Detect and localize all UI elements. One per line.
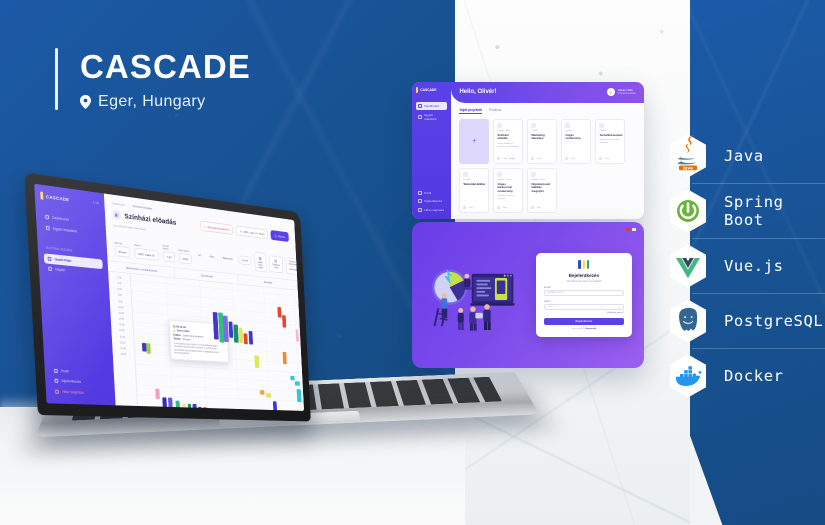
login-footer-text: Nincs fiókod? xyxy=(571,328,584,330)
button-label: Gantt Plan nézet xyxy=(258,261,263,270)
sidebar-item-label: Naptár xyxy=(55,268,65,273)
dashboard-hero: Hello, Olivér! ☺ Olivér Oláh projektmene… xyxy=(451,82,644,103)
project-card-name: Színházi előadás xyxy=(497,134,519,141)
login-screenshot-card: Bejelentkezés Üdvözlünk újra, add meg ad… xyxy=(412,222,644,368)
tech-stack-item-postgresql[interactable]: PostgreSQL xyxy=(665,293,825,348)
project-card-members: 5 tag xyxy=(536,158,540,160)
project-card-members: 4 tag xyxy=(570,158,574,160)
sidebar-item-label: Gantt Plan xyxy=(54,257,71,263)
gantt-bar[interactable] xyxy=(290,376,295,380)
project-card[interactable]: ProjektTermékbevezetésGyártási és logisz… xyxy=(595,119,625,164)
home-icon xyxy=(45,215,49,219)
project-card-name: Termékbevezetés xyxy=(599,134,621,137)
login-form-card: Bejelentkezés Üdvözlünk újra, add meg ad… xyxy=(536,253,632,337)
profile-icon xyxy=(54,369,58,373)
java-icon: Java xyxy=(665,133,711,179)
members-icon xyxy=(497,206,500,209)
calendar-icon xyxy=(48,267,52,271)
gantt-bar[interactable] xyxy=(295,381,300,385)
postgresql-icon xyxy=(665,298,711,344)
save-icon: ⎙ xyxy=(274,234,276,238)
breadcrumb-separator: › xyxy=(128,203,129,207)
dashboard-sidebar-item-tasks[interactable]: Egyéb feladatok xyxy=(416,110,447,122)
gantt-bar[interactable] xyxy=(266,393,271,397)
project-card-meta: Projekt · Lezárt xyxy=(531,179,553,181)
sidebar-item-label: Profil xyxy=(424,191,431,195)
project-card-badge: 2 nap xyxy=(509,158,514,160)
logo-bar-yellow-icon xyxy=(583,260,586,269)
project-title: Színházi előadás xyxy=(124,212,176,227)
user-icon xyxy=(46,225,50,229)
login-title: Bejelentkezés xyxy=(544,273,624,278)
sidebar-footer: Profil Kijelentkezés Hiba megírása xyxy=(50,366,110,399)
field-value: 7:30 xyxy=(163,251,175,262)
logo-mark-icon xyxy=(40,191,43,199)
logout-icon xyxy=(418,199,422,203)
button-label: Beavatkozás kérése xyxy=(208,225,230,231)
project-card-icon xyxy=(599,123,604,128)
vuejs-icon xyxy=(665,243,711,289)
breadcrumb-root[interactable]: Dashboard xyxy=(112,201,125,207)
members-icon xyxy=(463,206,466,209)
tech-stack-list: Java Java Spring Boot xyxy=(665,128,825,403)
sidebar-item-label: Egyéb feladatok xyxy=(53,226,77,233)
filter-start-time[interactable]: Kezdő dátum 7:30 xyxy=(162,244,175,262)
project-card-icon xyxy=(463,172,468,177)
project-card-icon xyxy=(531,123,536,128)
tech-stack-item-java[interactable]: Java Java xyxy=(665,128,825,183)
request-intervention-button[interactable]: ⚠ Beavatkozás kérése xyxy=(200,221,234,235)
password-label: Jelszó xyxy=(544,301,624,303)
project-card-description: Helyszín, catering, program. xyxy=(497,195,519,201)
app-logo-label: CASCADE xyxy=(46,194,70,202)
dashboard-tabs: Saját projektek Publikus xyxy=(451,103,644,117)
sidebar-item-label: Dashboard xyxy=(424,104,439,108)
status-dot-icon xyxy=(173,330,175,333)
project-card-members: 3 tag xyxy=(536,207,540,209)
field-value: 23:00 xyxy=(179,253,192,264)
tech-stack-item-spring-boot[interactable]: Spring Boot xyxy=(665,183,825,238)
project-card-footer: 3 tag xyxy=(531,206,553,209)
project-card-description: Gyártási és logisztikai feladatok. xyxy=(599,139,621,145)
laptop-lid: CASCADE 4.18 Dashboard Egyéb feladatok S… xyxy=(24,172,311,421)
email-input[interactable]: pelda@email.hu xyxy=(544,290,624,296)
project-card-icon xyxy=(497,123,502,128)
gantt-bar[interactable] xyxy=(187,404,191,411)
logo-mark-icon xyxy=(416,87,418,93)
members-icon xyxy=(497,157,500,160)
spring-boot-icon xyxy=(665,188,711,234)
laptop-screen: CASCADE 4.18 Dashboard Egyéb feladatok S… xyxy=(34,184,304,411)
project-card-meta: Projekt xyxy=(599,130,621,132)
register-link[interactable]: Regisztrálj xyxy=(585,328,596,330)
project-card-icon xyxy=(497,172,502,177)
field-label: Kezdő dátum xyxy=(162,244,174,251)
gantt-bar[interactable] xyxy=(163,397,168,410)
chart-icon xyxy=(48,257,52,261)
user-menu[interactable]: ☺ Olivér Oláh projektmenedzser xyxy=(607,88,636,96)
avatar: ☺ xyxy=(607,88,615,96)
field-value: 2025. május 14. xyxy=(134,248,159,261)
docker-icon xyxy=(665,353,711,399)
app-main: Dashboard › Színházi előadás ▦ Színházi … xyxy=(103,193,304,411)
tooltip-key: Terület: xyxy=(174,338,182,341)
gantt-bar[interactable] xyxy=(260,390,265,394)
dashboard-sidebar-item-profile[interactable]: Profil xyxy=(416,189,447,197)
share-export-button[interactable]: Megosztás / exportálás xyxy=(303,260,305,275)
gantt-axis-tick: 14:00 xyxy=(112,351,134,358)
save-button[interactable]: ⎙ Mentés xyxy=(271,230,289,242)
tech-stack-label: Vue.js xyxy=(724,257,784,275)
gantt-icon: ▥ xyxy=(259,255,262,260)
sidebar-item-label: Kijelentkezés xyxy=(61,379,81,384)
gantt-bar[interactable] xyxy=(175,401,180,411)
user-role: projektmenedzser xyxy=(618,93,636,95)
gantt-bar[interactable] xyxy=(203,407,207,411)
tech-stack-item-docker[interactable]: Docker xyxy=(665,348,825,403)
user-icon xyxy=(418,115,422,119)
filter-end-time[interactable]: Záró dátum 23:00 xyxy=(178,249,192,265)
project-card-icon xyxy=(565,123,570,128)
gantt-bar[interactable] xyxy=(182,404,186,411)
login-submit-button[interactable]: Bejelentkezés xyxy=(544,318,624,325)
project-card-footer: 5 tag xyxy=(531,157,553,160)
tooltip-description: A jelenetpróba teljes díszlet- és fénybe… xyxy=(174,343,226,358)
flag-en-icon[interactable] xyxy=(632,228,636,231)
bug-icon xyxy=(418,208,422,212)
eye-icon[interactable]: ◎ xyxy=(618,306,620,309)
calendar-icon: ▭ xyxy=(240,229,242,233)
login-footer: Nincs fiókod? Regisztrálj xyxy=(544,328,624,330)
flag-hu-icon[interactable] xyxy=(626,228,630,231)
login-subtitle: Üdvözlünk újra, add meg adataid! xyxy=(544,280,624,283)
sidebar-item-label: Profil xyxy=(61,369,69,373)
email-label: E-mail xyxy=(544,287,624,289)
app-version-badge: 4.18 xyxy=(93,201,99,206)
password-field-group: Jelszó •••••••• ◎ xyxy=(544,301,624,310)
project-card-meta: Projekt xyxy=(463,179,485,181)
filter-pill-done[interactable]: Befejezett xyxy=(220,254,235,263)
gantt-bar[interactable] xyxy=(146,343,150,353)
login-logo xyxy=(544,260,624,269)
filter-date[interactable]: Dátum 2025. május 14. xyxy=(134,244,159,261)
project-card-footer: 3 tag2 nap xyxy=(497,157,519,160)
members-icon xyxy=(599,157,602,160)
project-card[interactable]: ProjektCéges rendezvény4 tag xyxy=(561,119,591,164)
gantt-bar[interactable] xyxy=(273,401,278,411)
sidebar-item-label: Hiba megírása xyxy=(62,390,84,395)
headline-accent-bar xyxy=(55,48,58,110)
gantt-canvas[interactable]: 11:00-11:45 Szoros ütem Felelős: Szabó A… xyxy=(131,274,304,411)
forgot-password-link[interactable]: Elfelejtett jelszó? xyxy=(544,312,624,314)
gantt-bar[interactable] xyxy=(155,389,159,399)
project-card-meta: Projekt xyxy=(565,130,587,132)
dashboard-sidebar-footer: Profil Kijelentkezés Hiba megírása xyxy=(416,189,447,214)
dashboard-sidebar: CASCADE Dashboard Egyéb feladatok Profil xyxy=(412,82,451,219)
app-sidebar: CASCADE 4.18 Dashboard Egyéb feladatok S… xyxy=(34,184,115,406)
breadcrumb-current: Színházi előadás xyxy=(132,204,152,210)
gantt-bar[interactable] xyxy=(255,355,260,367)
gantt-bar[interactable] xyxy=(277,307,281,318)
greeting-text: Hello, Olivér! xyxy=(459,89,496,95)
project-card-footer: 2 tag xyxy=(463,206,485,209)
dashboard-sidebar-item-logout[interactable]: Kijelentkezés xyxy=(416,197,447,205)
project-icon: ▦ xyxy=(112,210,120,220)
headline-block: CASCADE Eger, Hungary xyxy=(55,48,251,111)
email-field-group: E-mail pelda@email.hu xyxy=(544,287,624,296)
tech-stack-label: Docker xyxy=(724,367,784,385)
dashboard-logo[interactable]: CASCADE xyxy=(416,87,447,93)
project-card-footer: 8 tag xyxy=(497,206,519,209)
project-card-description: Teljes produkciós ütemterv a bemutatóig. xyxy=(497,143,519,149)
gantt-body: 7:308:008:309:009:3010:0010:3011:0011:30… xyxy=(108,272,304,411)
chip-label: 2025. máj. 14. 15:40 xyxy=(243,230,264,236)
tech-stack-label: Java xyxy=(724,147,764,165)
project-card[interactable]: ProjektWeboldal átállás2 tag xyxy=(459,168,489,213)
table-icon: ▤ xyxy=(274,259,277,264)
add-project-card[interactable]: + xyxy=(459,119,489,164)
project-card-footer: 6 tag xyxy=(599,157,621,160)
button-label: Összes kibontása / bezárása xyxy=(289,260,297,271)
sidebar-item-report-bug[interactable]: Hiba megírása xyxy=(51,386,109,398)
gantt-bar[interactable] xyxy=(168,398,173,411)
dashboard-sidebar-item-dashboard[interactable]: Dashboard xyxy=(416,102,447,110)
location-block: Eger, Hungary xyxy=(80,93,251,111)
logo-bar-green-icon xyxy=(587,260,590,269)
view-button-gantt[interactable]: ▥ Gantt Plan nézet xyxy=(254,252,266,273)
project-card-icon xyxy=(531,172,536,177)
dashboard-screenshot-card: CASCADE Dashboard Egyéb feladatok Profil xyxy=(412,82,644,219)
gantt-bar[interactable] xyxy=(244,333,248,344)
button-label: Táblázat nézet xyxy=(272,264,279,270)
location-label: Eger, Hungary xyxy=(98,93,205,111)
members-icon xyxy=(531,157,534,160)
logout-icon xyxy=(54,379,58,383)
gantt-bar[interactable] xyxy=(295,329,299,341)
filter-pill-active[interactable]: Aktív xyxy=(206,253,217,261)
project-card-grid: + Projekt · AktívSzínházi előadásTeljes … xyxy=(451,117,644,219)
login-illustration xyxy=(424,242,528,347)
project-card-name: Weboldal átállás xyxy=(463,183,485,186)
sidebar-item-label: Kijelentkezés xyxy=(424,199,442,203)
password-input[interactable]: •••••••• ◎ xyxy=(544,304,624,310)
dashboard-sidebar-item-report-bug[interactable]: Hiba megírása xyxy=(416,206,447,214)
gantt-bar[interactable] xyxy=(248,331,252,345)
gantt-bar[interactable] xyxy=(283,352,287,364)
bug-icon xyxy=(55,389,59,393)
tooltip-value: Színpad xyxy=(183,339,191,342)
dashboard-app: CASCADE Dashboard Egyéb feladatok Profil xyxy=(412,82,644,219)
tech-stack-label: PostgreSQL xyxy=(724,312,823,330)
password-value: •••••••• xyxy=(547,306,553,308)
dashboard-logo-label: CASCADE xyxy=(420,88,436,92)
project-card[interactable]: ProjektMarketing kampány5 tag xyxy=(527,119,557,164)
gantt-bar[interactable] xyxy=(297,389,301,402)
project-card-members: 2 tag xyxy=(468,207,472,209)
project-card-name: Céges karácsonyi rendezvény xyxy=(497,183,519,193)
gantt-bar[interactable] xyxy=(193,404,197,411)
members-icon xyxy=(531,206,534,209)
project-card[interactable]: Projekt · AktívSzínházi előadásTeljes pr… xyxy=(493,119,523,164)
poster-canvas: CASCADE Eger, Hungary Java xyxy=(0,0,825,525)
gantt-bar[interactable] xyxy=(239,328,244,343)
logo-bar-blue-icon xyxy=(578,260,581,269)
members-icon xyxy=(565,157,568,160)
sidebar-item-label: Dashboard xyxy=(52,216,69,222)
gantt-bar[interactable] xyxy=(234,325,239,343)
date-chip[interactable]: ▭ 2025. máj. 14. 15:40 xyxy=(236,225,269,239)
tech-stack-label: Spring Boot xyxy=(724,193,825,229)
project-card-members: 6 tag xyxy=(604,158,608,160)
project-card[interactable]: Projekt · LezártCéges karácsonyi rendezv… xyxy=(493,168,523,213)
language-flags[interactable] xyxy=(626,228,636,231)
sidebar-item-label: Hiba megírása xyxy=(424,208,444,212)
filter-period[interactable]: Időszak 30 perc xyxy=(114,241,131,257)
gantt-bar[interactable] xyxy=(198,407,202,411)
project-card-meta: Projekt · Lezárt xyxy=(497,179,519,181)
project-card-name: Népművészeti kiállítás megnyitó xyxy=(531,183,553,193)
project-card-name: Marketing kampány xyxy=(531,134,553,141)
tooltip-key: Felelős: xyxy=(173,334,181,337)
expand-all-button[interactable]: Összes kibontása / bezárása xyxy=(285,257,300,275)
alert-icon: ⚠ xyxy=(204,224,206,228)
field-value: 30 perc xyxy=(114,246,130,258)
dashboard-main: Hello, Olivér! ☺ Olivér Oláh projektmene… xyxy=(451,82,644,219)
project-card[interactable]: Projekt · LezártNépművészeti kiállítás m… xyxy=(527,168,557,213)
profile-icon xyxy=(418,191,422,195)
view-button-table[interactable]: ▤ Táblázat nézet xyxy=(269,255,284,273)
sidebar-item-label: Egyéb feladatok xyxy=(424,113,445,121)
map-pin-icon xyxy=(80,95,91,109)
tech-stack-item-vuejs[interactable]: Vue.js xyxy=(665,238,825,293)
svg-text:Java: Java xyxy=(682,165,693,170)
home-icon xyxy=(418,104,422,108)
project-card-meta: Projekt xyxy=(531,130,553,132)
tab-my-projects[interactable]: Saját projektek xyxy=(459,108,482,114)
button-label: Mentés xyxy=(278,234,285,238)
project-card-name: Céges rendezvény xyxy=(565,134,587,141)
filter-pill-all[interactable]: All xyxy=(195,251,204,259)
tab-public[interactable]: Publikus xyxy=(489,108,501,114)
filter-pill-filters[interactable]: Szűrők xyxy=(238,255,252,265)
page-title: CASCADE xyxy=(80,50,251,85)
gantt-chart[interactable]: Előkészítés / próbafolyamat Főpróbahét E… xyxy=(107,261,304,411)
project-card-members: 8 tag xyxy=(502,207,506,209)
project-card-meta: Projekt · Aktív xyxy=(497,130,519,132)
gantt-bar[interactable] xyxy=(282,315,286,327)
project-card-footer: 4 tag xyxy=(565,157,587,160)
project-card-members: 3 tag xyxy=(502,158,506,160)
app-logo[interactable]: CASCADE 4.18 xyxy=(40,191,99,207)
